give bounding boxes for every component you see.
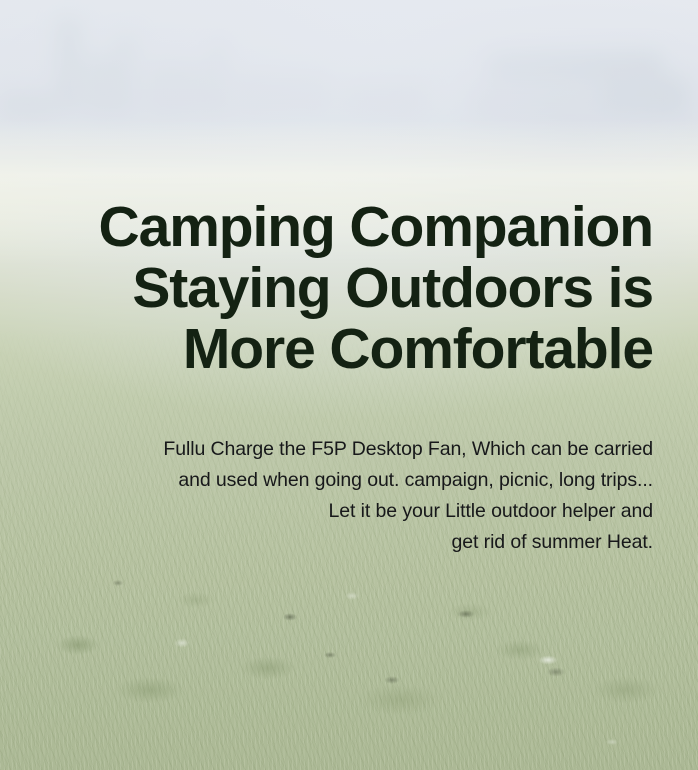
subcopy-line-2: and used when going out. campaign, picni… (0, 465, 653, 496)
subcopy-line-4: get rid of summer Heat. (0, 527, 653, 558)
background-atmospheric-veil (0, 0, 698, 770)
headline-line-3: More Comfortable (0, 319, 653, 380)
hero-banner: Camping Companion Staying Outdoors is Mo… (0, 0, 698, 770)
subcopy: Fullu Charge the F5P Desktop Fan, Which … (0, 434, 653, 558)
headline-line-1: Camping Companion (0, 197, 653, 258)
subcopy-line-3: Let it be your Little outdoor helper and (0, 496, 653, 527)
subcopy-line-1: Fullu Charge the F5P Desktop Fan, Which … (0, 434, 653, 465)
headline: Camping Companion Staying Outdoors is Mo… (0, 197, 653, 380)
headline-line-2: Staying Outdoors is (0, 258, 653, 319)
